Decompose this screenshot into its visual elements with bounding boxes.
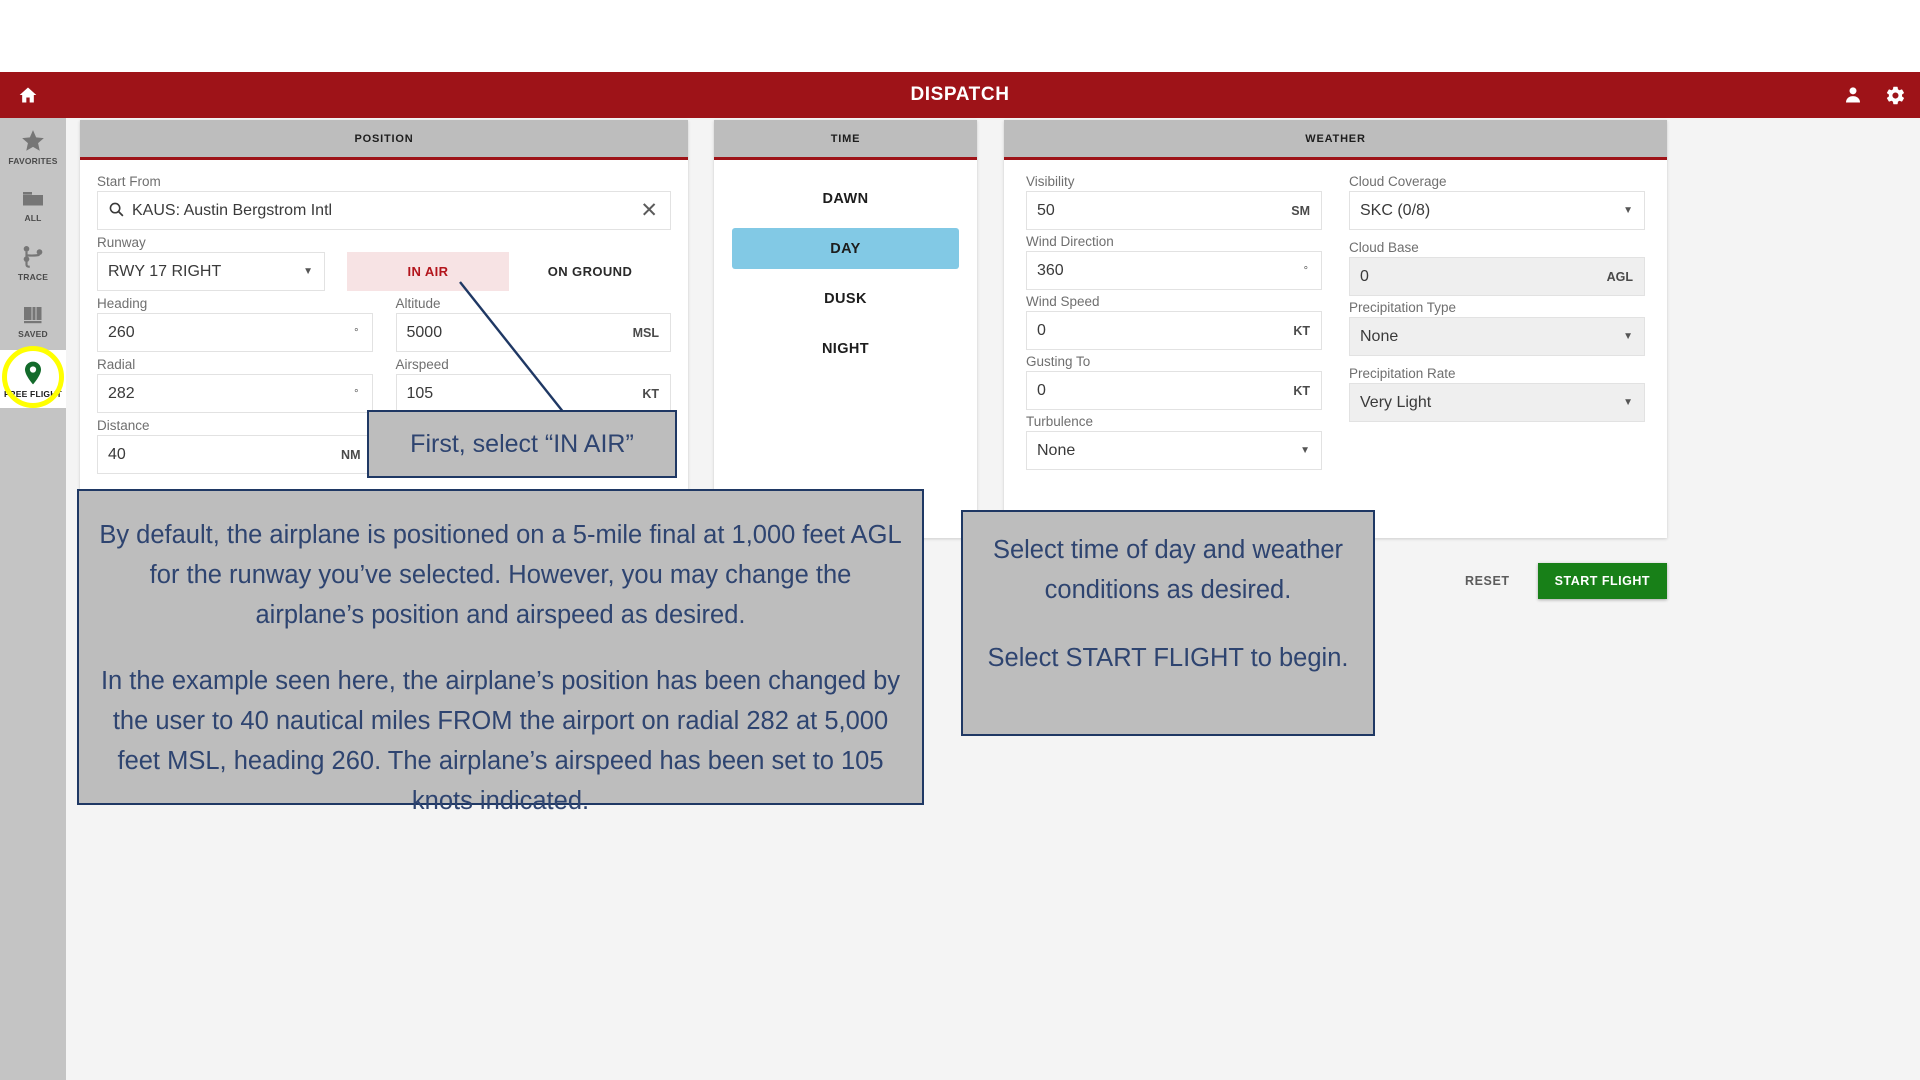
visibility-input[interactable]: 50 SM bbox=[1026, 191, 1322, 230]
altitude-label: Altitude bbox=[396, 296, 672, 311]
cloud-base-value: 0 bbox=[1360, 268, 1369, 286]
gusting-field: Gusting To 0 KT bbox=[1026, 354, 1322, 410]
airspeed-unit: KT bbox=[642, 387, 659, 401]
distance-input[interactable]: 40 NM bbox=[97, 435, 373, 474]
airspeed-label: Airspeed bbox=[396, 357, 672, 372]
wind-direction-input[interactable]: 360 ° bbox=[1026, 251, 1322, 290]
altitude-field: Altitude 5000 MSL bbox=[396, 296, 672, 352]
precip-rate-field: Precipitation Rate Very Light ▼ bbox=[1349, 366, 1645, 422]
gusting-label: Gusting To bbox=[1026, 354, 1322, 369]
weather-left-column: Visibility 50 SM Wind Direction 360 ° bbox=[1026, 174, 1322, 474]
wind-direction-field: Wind Direction 360 ° bbox=[1026, 234, 1322, 290]
cloud-base-input[interactable]: 0 AGL bbox=[1349, 257, 1645, 296]
distance-value: 40 bbox=[108, 446, 126, 464]
app-root: DISPATCH FAVORITES bbox=[0, 0, 1920, 1080]
runway-select[interactable]: RWY 17 RIGHT ▼ bbox=[97, 252, 325, 291]
radial-input[interactable]: 282 ° bbox=[97, 374, 373, 413]
heading-input[interactable]: 260 ° bbox=[97, 313, 373, 352]
left-sidebar: FAVORITES ALL TRACE bbox=[0, 118, 66, 1080]
reset-button[interactable]: RESET bbox=[1459, 566, 1516, 596]
chevron-down-icon: ▼ bbox=[1300, 445, 1310, 456]
air-ground-toggle: IN AIR ON GROUND bbox=[347, 252, 671, 291]
sidebar-item-label: ALL bbox=[24, 213, 41, 223]
radial-unit: ° bbox=[354, 388, 358, 400]
radial-field: Radial 282 ° bbox=[97, 357, 373, 413]
annotation-weather-note: Select time of day and weather condition… bbox=[961, 510, 1375, 736]
time-option-night[interactable]: NIGHT bbox=[732, 328, 959, 369]
cloud-base-unit: AGL bbox=[1607, 270, 1633, 284]
weather-form: Visibility 50 SM Wind Direction 360 ° bbox=[1004, 160, 1667, 474]
heading-value: 260 bbox=[108, 324, 135, 342]
cloud-base-label: Cloud Base bbox=[1349, 240, 1645, 255]
heading-label: Heading bbox=[97, 296, 373, 311]
sidebar-item-label: FREE FLIGHT bbox=[4, 389, 62, 399]
heading-unit: ° bbox=[354, 327, 358, 339]
map-pin-icon bbox=[20, 359, 46, 387]
precip-type-label: Precipitation Type bbox=[1349, 300, 1645, 315]
page-title: DISPATCH bbox=[0, 72, 1920, 118]
start-flight-button[interactable]: START FLIGHT bbox=[1538, 563, 1667, 599]
cloud-coverage-value: SKC (0/8) bbox=[1360, 202, 1430, 220]
wind-direction-unit: ° bbox=[1304, 265, 1308, 277]
heading-altitude-row: Heading 260 ° Altitude 5000 MSL bbox=[97, 296, 671, 357]
wind-direction-value: 360 bbox=[1037, 262, 1064, 280]
time-option-day[interactable]: DAY bbox=[732, 228, 959, 269]
annotation-weather-paragraph-1: Select time of day and weather condition… bbox=[979, 530, 1357, 610]
radial-airspeed-row: Radial 282 ° Airspeed 105 KT bbox=[97, 357, 671, 418]
time-option-dawn[interactable]: DAWN bbox=[732, 178, 959, 219]
gusting-unit: KT bbox=[1293, 384, 1310, 398]
position-panel-title: POSITION bbox=[80, 120, 688, 160]
visibility-unit: SM bbox=[1291, 204, 1310, 218]
turbulence-label: Turbulence bbox=[1026, 414, 1322, 429]
gusting-value: 0 bbox=[1037, 382, 1046, 400]
wind-speed-field: Wind Speed 0 KT bbox=[1026, 294, 1322, 350]
folder-icon bbox=[20, 187, 46, 211]
time-panel: TIME DAWN DAY DUSK NIGHT bbox=[714, 120, 977, 538]
runway-value: RWY 17 RIGHT bbox=[108, 263, 221, 281]
sidebar-item-all[interactable]: ALL bbox=[0, 176, 66, 234]
search-icon bbox=[108, 201, 125, 223]
start-from-label: Start From bbox=[97, 174, 671, 189]
turbulence-value: None bbox=[1037, 442, 1075, 460]
sidebar-item-trace[interactable]: TRACE bbox=[0, 234, 66, 292]
annotation-position-paragraph-2: In the example seen here, the airplane’s… bbox=[97, 661, 904, 821]
wind-speed-input[interactable]: 0 KT bbox=[1026, 311, 1322, 350]
wind-direction-label: Wind Direction bbox=[1026, 234, 1322, 249]
time-options: DAWN DAY DUSK NIGHT bbox=[714, 160, 977, 369]
turbulence-select[interactable]: None ▼ bbox=[1026, 431, 1322, 470]
sidebar-item-saved[interactable]: SAVED bbox=[0, 292, 66, 350]
precip-rate-label: Precipitation Rate bbox=[1349, 366, 1645, 381]
runway-label: Runway bbox=[97, 235, 671, 250]
sidebar-item-label: TRACE bbox=[18, 272, 48, 282]
wind-speed-value: 0 bbox=[1037, 322, 1046, 340]
visibility-field: Visibility 50 SM bbox=[1026, 174, 1322, 230]
weather-panel-title: WEATHER bbox=[1004, 120, 1667, 160]
cloud-coverage-select[interactable]: SKC (0/8) ▼ bbox=[1349, 191, 1645, 230]
cloud-coverage-field: Cloud Coverage SKC (0/8) ▼ bbox=[1349, 174, 1645, 230]
time-panel-title: TIME bbox=[714, 120, 977, 160]
precip-rate-value: Very Light bbox=[1360, 394, 1431, 412]
gear-icon[interactable] bbox=[1885, 85, 1906, 106]
gusting-input[interactable]: 0 KT bbox=[1026, 371, 1322, 410]
cloud-coverage-label: Cloud Coverage bbox=[1349, 174, 1645, 189]
runway-row: Runway RWY 17 RIGHT ▼ IN AIR ON GROUND bbox=[97, 235, 671, 291]
top-header-bar: DISPATCH bbox=[0, 72, 1920, 118]
start-from-field: Start From KAUS: Austin Bergstrom Intl ✕ bbox=[97, 174, 671, 230]
altitude-unit: MSL bbox=[633, 326, 659, 340]
trace-icon bbox=[20, 244, 46, 270]
weather-right-column: Cloud Coverage SKC (0/8) ▼ Cloud Base 0 … bbox=[1349, 174, 1645, 474]
airspeed-field: Airspeed 105 KT bbox=[396, 357, 672, 413]
visibility-value: 50 bbox=[1037, 202, 1055, 220]
sidebar-item-free-flight[interactable]: FREE FLIGHT bbox=[0, 350, 66, 408]
airspeed-value: 105 bbox=[407, 385, 434, 403]
distance-label: Distance bbox=[97, 418, 373, 433]
turbulence-field: Turbulence None ▼ bbox=[1026, 414, 1322, 470]
annotation-position-note: By default, the airplane is positioned o… bbox=[77, 489, 924, 805]
radial-value: 282 bbox=[108, 385, 135, 403]
altitude-input[interactable]: 5000 MSL bbox=[396, 313, 672, 352]
visibility-label: Visibility bbox=[1026, 174, 1322, 189]
precip-type-select[interactable]: None ▼ bbox=[1349, 317, 1645, 356]
wind-speed-label: Wind Speed bbox=[1026, 294, 1322, 309]
header-actions bbox=[1843, 72, 1906, 118]
weather-panel: WEATHER Visibility 50 SM Wind Direction … bbox=[1004, 120, 1667, 538]
chevron-down-icon: ▼ bbox=[303, 266, 313, 277]
sidebar-item-favorites[interactable]: FAVORITES bbox=[0, 118, 66, 176]
in-air-button[interactable]: IN AIR bbox=[347, 252, 509, 291]
star-icon bbox=[20, 128, 46, 154]
precip-type-field: Precipitation Type None ▼ bbox=[1349, 300, 1645, 356]
on-ground-button[interactable]: ON GROUND bbox=[509, 252, 671, 291]
distance-unit: NM bbox=[341, 448, 360, 462]
close-icon[interactable]: ✕ bbox=[640, 200, 658, 221]
wind-speed-unit: KT bbox=[1293, 324, 1310, 338]
time-option-dusk[interactable]: DUSK bbox=[732, 278, 959, 319]
sidebar-item-label: FAVORITES bbox=[8, 156, 57, 166]
chevron-down-icon: ▼ bbox=[1623, 397, 1633, 408]
distance-field: Distance 40 NM bbox=[97, 418, 373, 474]
annotation-position-paragraph-1: By default, the airplane is positioned o… bbox=[97, 515, 904, 635]
altitude-value: 5000 bbox=[407, 324, 443, 342]
radial-label: Radial bbox=[97, 357, 373, 372]
chevron-down-icon: ▼ bbox=[1623, 205, 1633, 216]
user-icon[interactable] bbox=[1843, 85, 1863, 105]
annotation-in-air: First, select “IN AIR” bbox=[367, 410, 677, 478]
chevron-down-icon: ▼ bbox=[1623, 331, 1633, 342]
start-from-input[interactable]: KAUS: Austin Bergstrom Intl ✕ bbox=[97, 191, 671, 230]
annotation-weather-paragraph-2: Select START FLIGHT to begin. bbox=[979, 638, 1357, 678]
precip-type-value: None bbox=[1360, 328, 1398, 346]
airspeed-input[interactable]: 105 KT bbox=[396, 374, 672, 413]
annotation-in-air-text: First, select “IN AIR” bbox=[410, 430, 634, 459]
heading-field: Heading 260 ° bbox=[97, 296, 373, 352]
sidebar-item-label: SAVED bbox=[18, 329, 48, 339]
start-from-value: KAUS: Austin Bergstrom Intl bbox=[132, 202, 332, 220]
precip-rate-select[interactable]: Very Light ▼ bbox=[1349, 383, 1645, 422]
cloud-base-field: Cloud Base 0 AGL bbox=[1349, 240, 1645, 296]
book-icon bbox=[20, 303, 46, 327]
